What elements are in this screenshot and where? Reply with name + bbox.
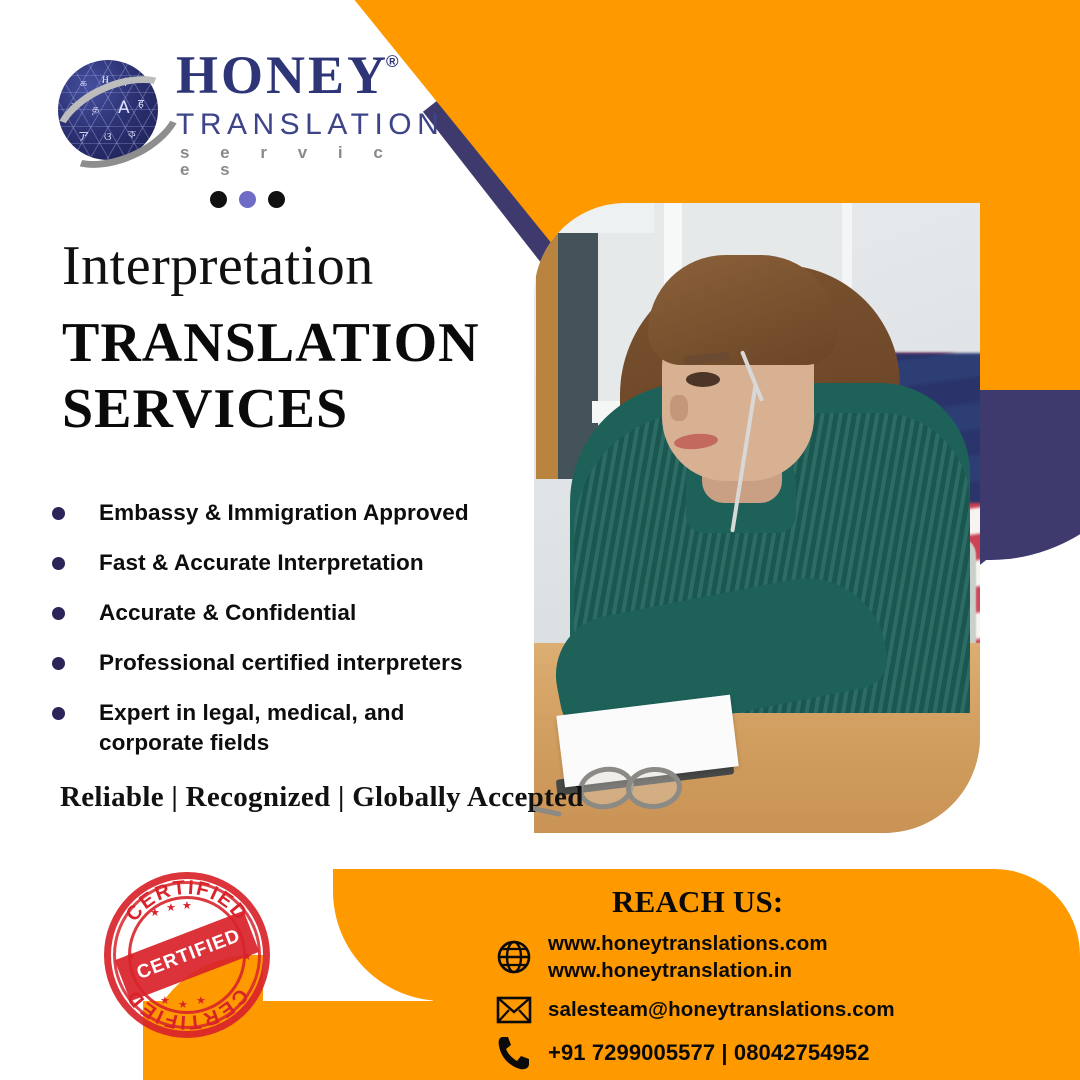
- contact-row-phone[interactable]: +91 7299005577 | 08042754952: [492, 1035, 1072, 1071]
- headline-script: Interpretation: [62, 238, 374, 294]
- feature-text: Fast & Accurate Interpretation: [99, 548, 424, 578]
- decorative-dots: [210, 191, 285, 208]
- globe-icon: [492, 939, 536, 975]
- globe-languages-icon: க អ ا ગ த A ह ア ଓ ক: [54, 56, 166, 168]
- website-secondary: www.honeytranslation.in: [548, 957, 828, 984]
- headline-main: TRANSLATION SERVICES: [62, 310, 480, 442]
- feature-text: Embassy & Immigration Approved: [99, 498, 469, 528]
- brand-logo[interactable]: க អ ا ગ த A ह ア ଓ ক HONEY ® TRANSLATION …: [54, 48, 414, 178]
- feature-text: Professional certified interpreters: [99, 648, 463, 678]
- contact-row-website[interactable]: www.honeytranslations.com www.honeytrans…: [492, 930, 1072, 985]
- list-item: Expert in legal, medical, and corporate …: [52, 698, 532, 758]
- feature-text: Expert in legal, medical, and corporate …: [99, 698, 449, 758]
- bullet-icon: [52, 507, 65, 520]
- tagline: Reliable | Recognized | Globally Accepte…: [60, 781, 584, 814]
- bullet-icon: [52, 557, 65, 570]
- feature-text: Accurate & Confidential: [99, 598, 356, 628]
- list-item: Professional certified interpreters: [52, 648, 532, 678]
- poster-canvas: க អ ا ગ த A ह ア ଓ ক HONEY ® TRANSLATION …: [0, 0, 1080, 1080]
- bullet-icon: [52, 657, 65, 670]
- phone-text: +91 7299005577 | 08042754952: [548, 1038, 870, 1067]
- registered-mark: ®: [386, 52, 399, 72]
- dot-2-active: [239, 191, 256, 208]
- headline-line-1: TRANSLATION: [62, 310, 480, 376]
- list-item: Embassy & Immigration Approved: [52, 498, 532, 528]
- phone-icon: [492, 1035, 536, 1071]
- feature-list: Embassy & Immigration Approved Fast & Ac…: [52, 498, 532, 778]
- logo-subline-translation: TRANSLATION: [176, 110, 444, 140]
- list-item: Fast & Accurate Interpretation: [52, 548, 532, 578]
- logo-wordmark: HONEY: [176, 48, 389, 102]
- bullet-icon: [52, 707, 65, 720]
- email-text: salesteam@honeytranslations.com: [548, 996, 895, 1023]
- reach-us-heading: REACH US:: [612, 884, 783, 920]
- bullet-icon: [52, 607, 65, 620]
- website-primary: www.honeytranslations.com: [548, 932, 828, 955]
- headline-line-2: SERVICES: [62, 376, 480, 442]
- logo-subline-services: s e r v i c e s: [180, 144, 414, 178]
- envelope-icon: [492, 995, 536, 1025]
- dot-1: [210, 191, 227, 208]
- website-text: www.honeytranslations.com www.honeytrans…: [548, 930, 828, 985]
- certified-stamp: CERTIFIED CERTIFIED ★ ★ ★ ★ ★ ★ ★ ★ CERT…: [104, 872, 270, 1038]
- list-item: Accurate & Confidential: [52, 598, 532, 628]
- contact-list: www.honeytranslations.com www.honeytrans…: [492, 930, 1072, 1080]
- dot-3: [268, 191, 285, 208]
- hero-photo: [534, 203, 980, 833]
- contact-row-email[interactable]: salesteam@honeytranslations.com: [492, 995, 1072, 1025]
